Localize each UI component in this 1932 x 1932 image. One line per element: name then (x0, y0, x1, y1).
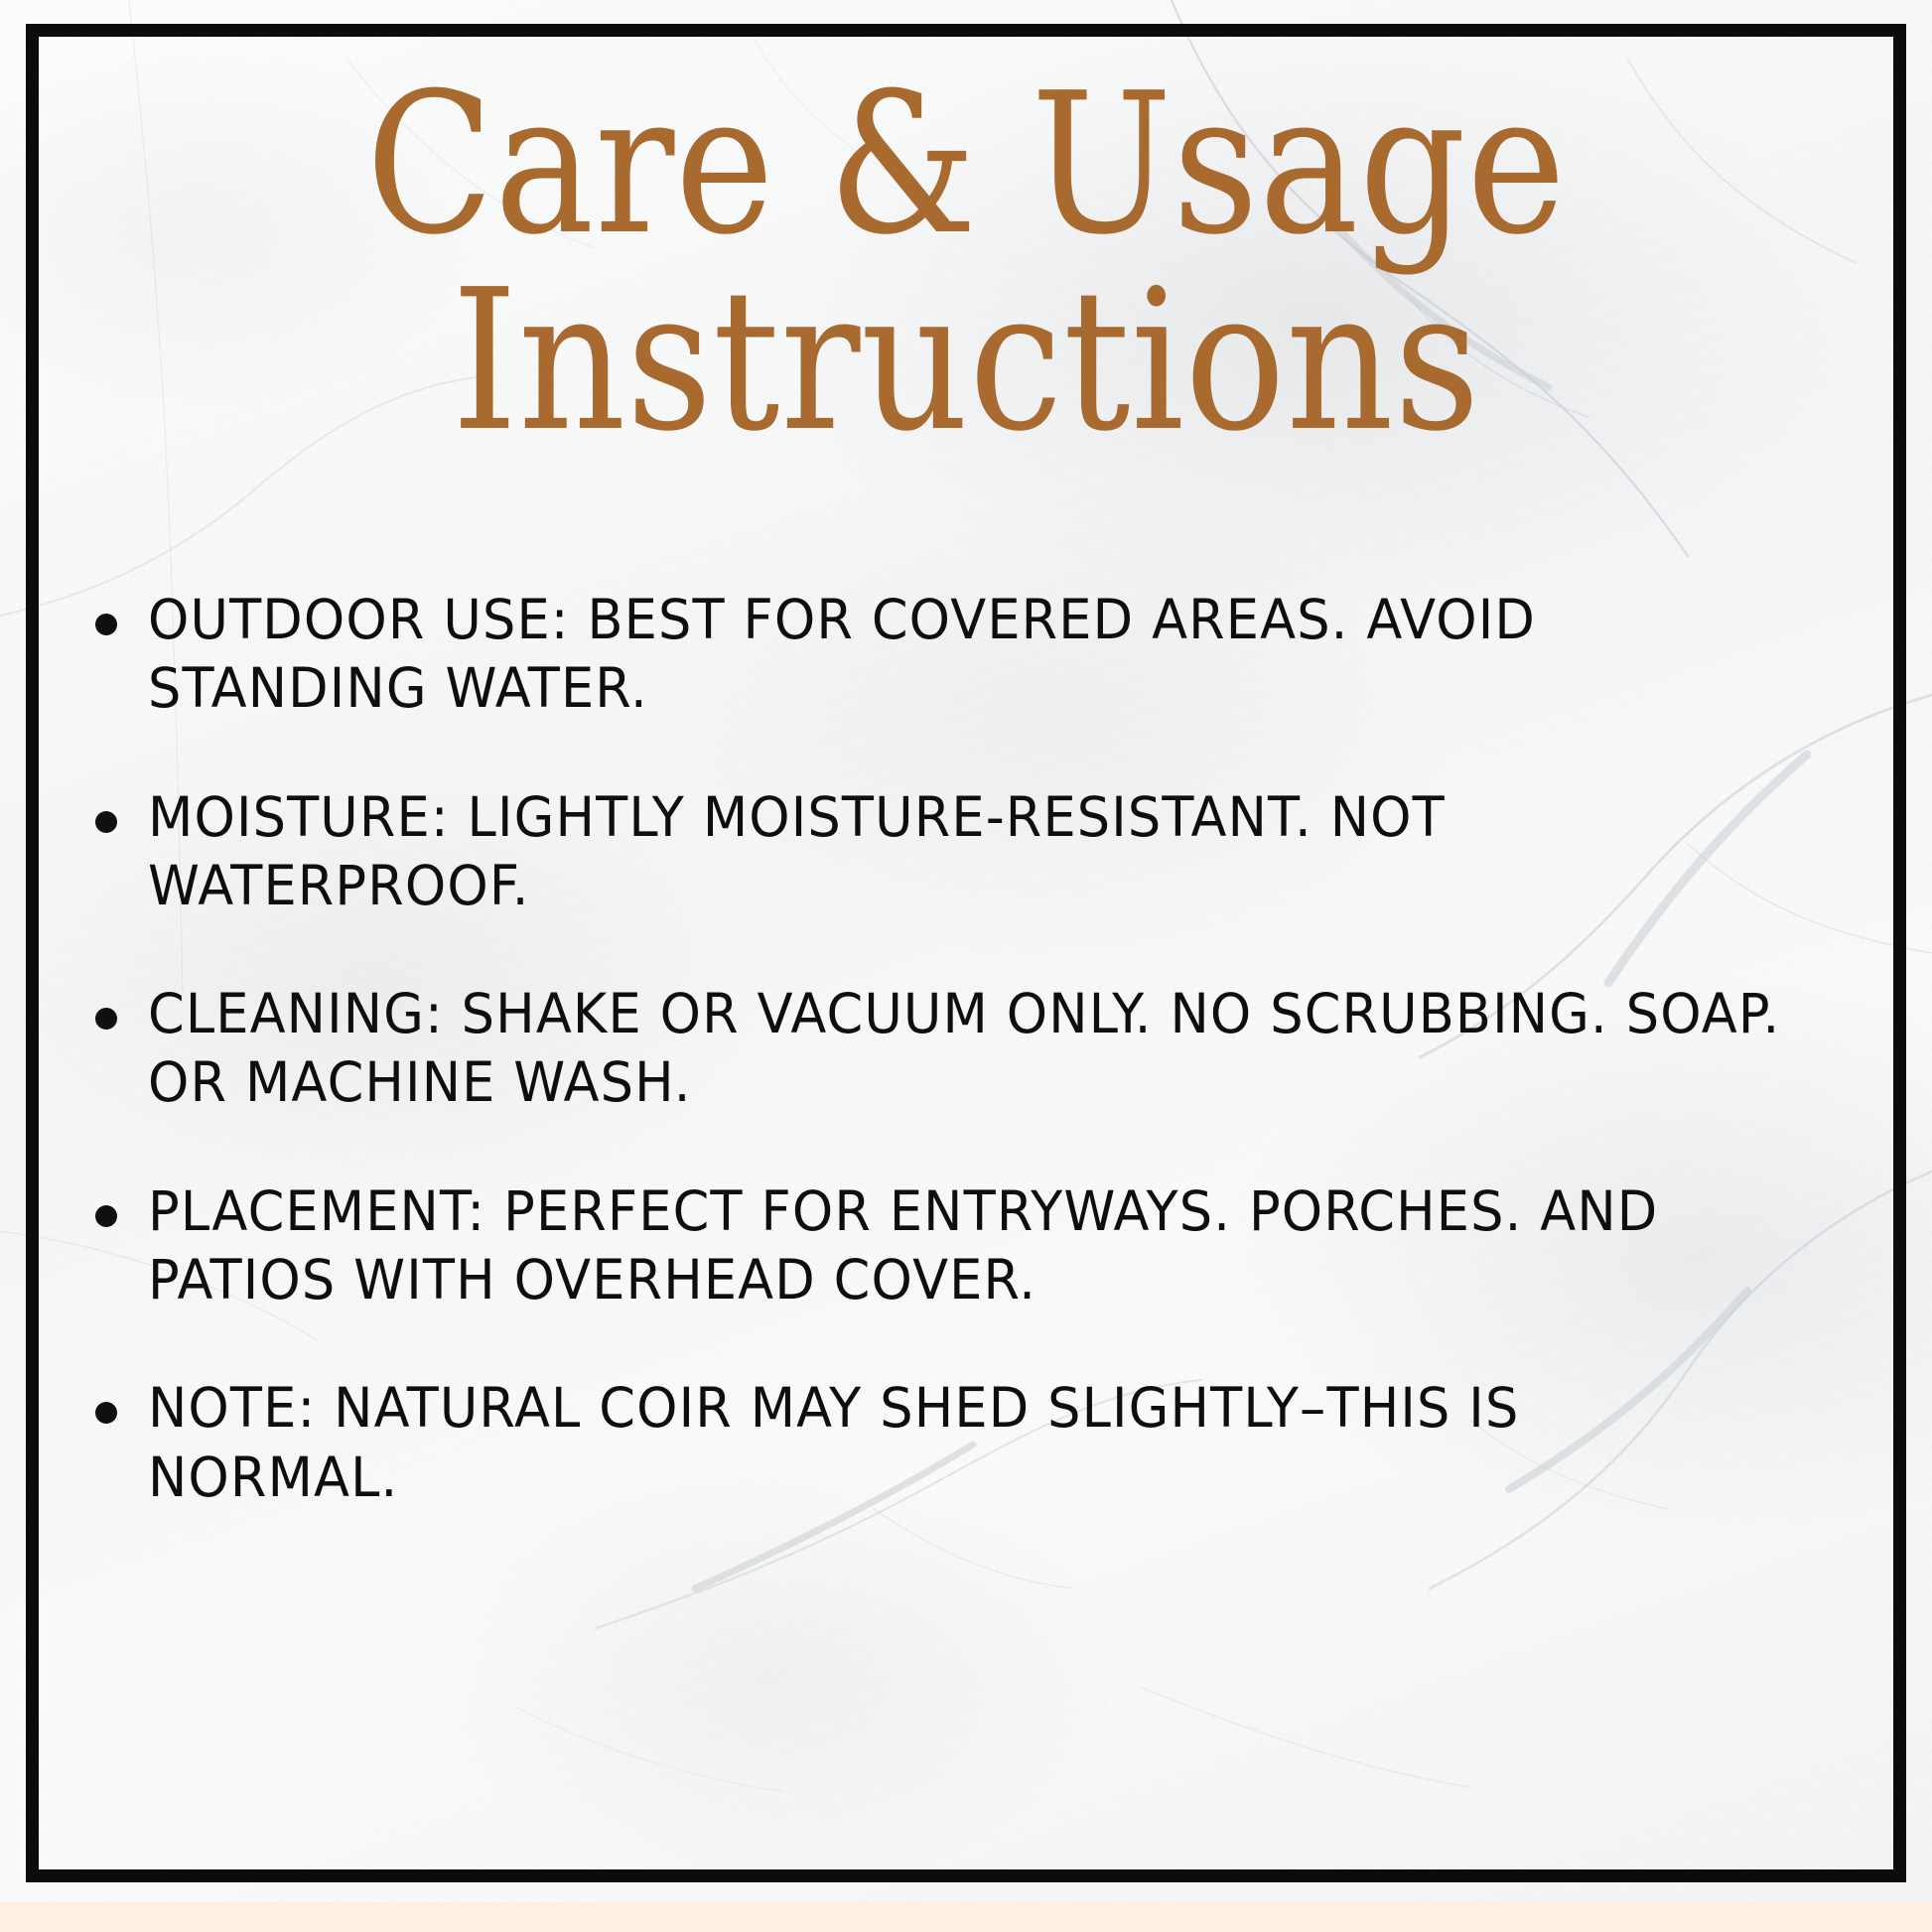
bullet-dot-icon (95, 614, 117, 635)
page-title-line-2: Instructions (237, 268, 1694, 455)
instructions-list: OUTDOOR USE: BEST FOR COVERED AREAS. AVO… (95, 586, 1859, 1512)
page-title-line-1: Care & Usage (237, 71, 1694, 258)
care-usage-card: Care & Usage Instructions OUTDOOR USE: B… (0, 0, 1932, 1932)
list-item-text: CLEANING: SHAKE OR VACUUM ONLY. NO SCRUB… (148, 980, 1781, 1118)
bottom-accent-strip (0, 1898, 1932, 1932)
list-item-text: NOTE: NATURAL COIR MAY SHED SLIGHTLY–THI… (148, 1374, 1781, 1512)
bullet-dot-icon (95, 1205, 117, 1227)
list-item: MOISTURE: LIGHTLY MOISTURE-RESISTANT. NO… (95, 783, 1859, 921)
list-item-text: MOISTURE: LIGHTLY MOISTURE-RESISTANT. NO… (148, 783, 1781, 921)
list-item: NOTE: NATURAL COIR MAY SHED SLIGHTLY–THI… (95, 1374, 1859, 1512)
list-item-text: OUTDOOR USE: BEST FOR COVERED AREAS. AVO… (148, 586, 1781, 724)
list-item: CLEANING: SHAKE OR VACUUM ONLY. NO SCRUB… (95, 980, 1859, 1118)
bullet-dot-icon (95, 811, 117, 833)
list-item: PLACEMENT: PERFECT FOR ENTRYWAYS. PORCHE… (95, 1177, 1859, 1315)
content-area: Care & Usage Instructions OUTDOOR USE: B… (0, 0, 1932, 1902)
page-title: Care & Usage Instructions (119, 71, 1813, 455)
bullet-dot-icon (95, 1402, 117, 1424)
list-item-text: PLACEMENT: PERFECT FOR ENTRYWAYS. PORCHE… (148, 1177, 1781, 1315)
bullet-dot-icon (95, 1008, 117, 1030)
list-item: OUTDOOR USE: BEST FOR COVERED AREAS. AVO… (95, 586, 1859, 724)
